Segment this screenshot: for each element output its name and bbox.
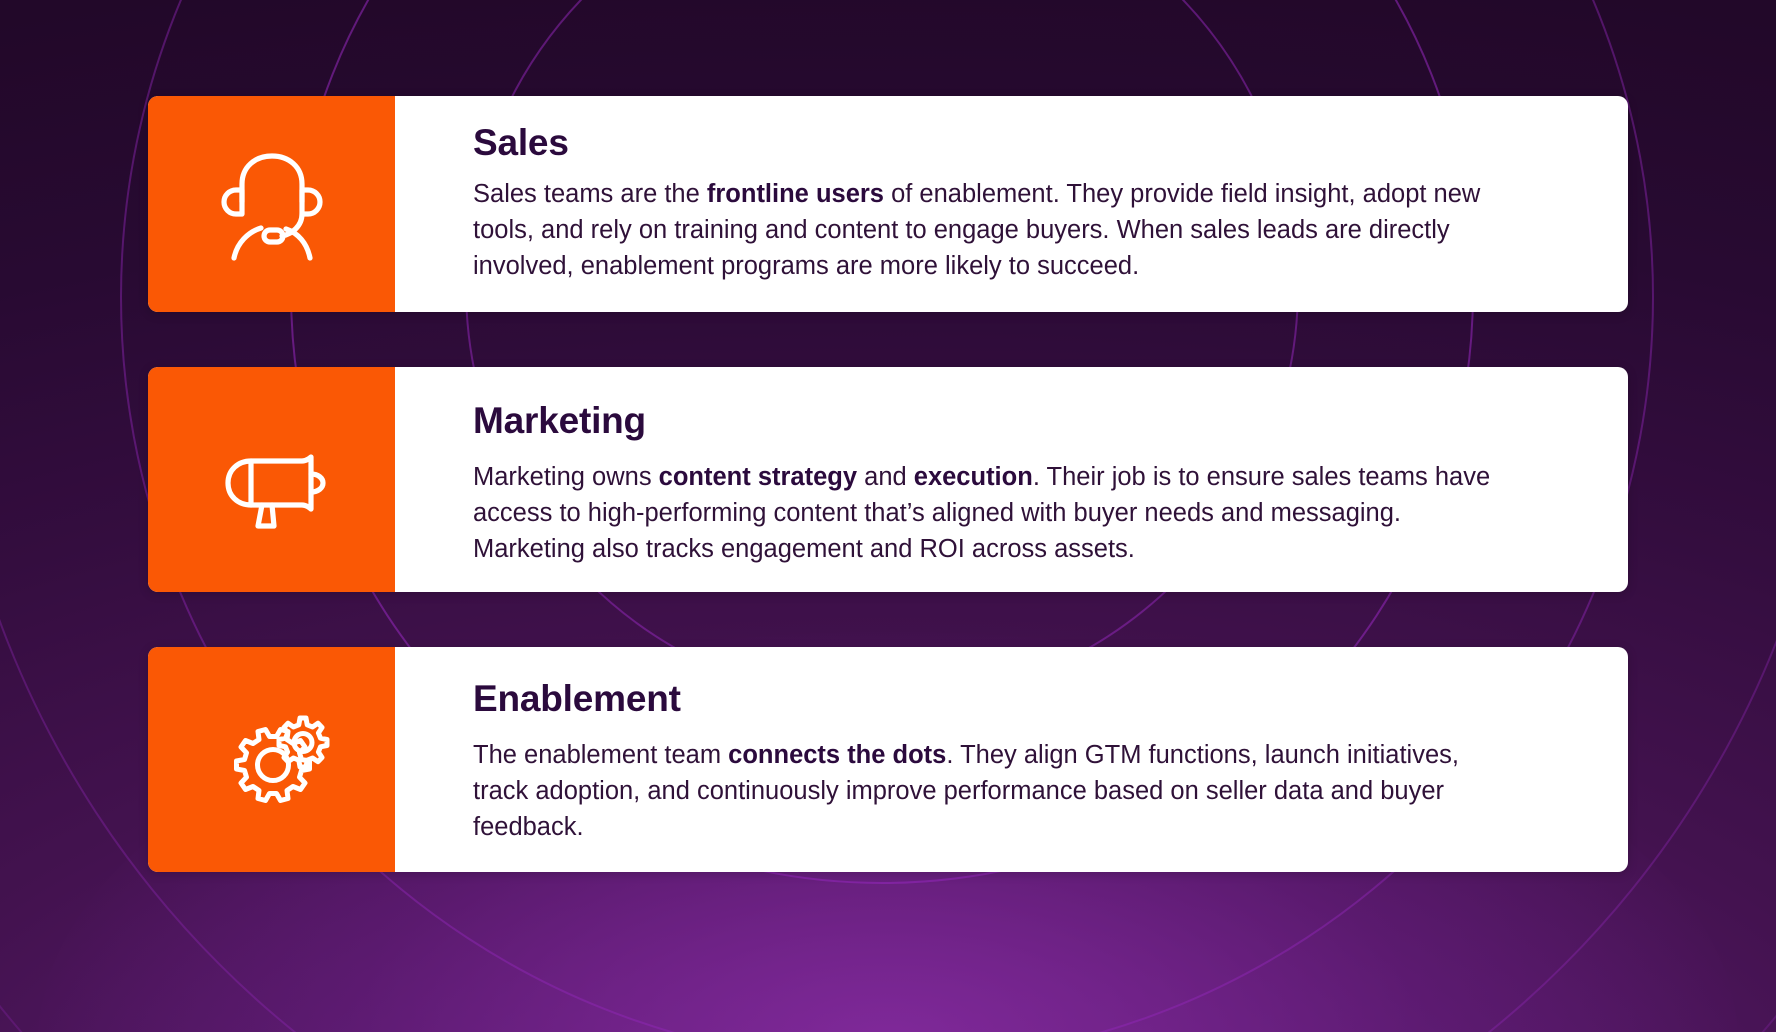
card-text-sales: Sales teams are the frontline users of e… <box>473 177 1508 285</box>
card-title-enablement: Enablement <box>473 679 1568 720</box>
card-sales[interactable]: Sales Sales teams are the frontline user… <box>148 96 1628 312</box>
card-text-enablement: The enablement team connects the dots. T… <box>473 738 1508 846</box>
card-body-marketing: Marketing Marketing owns content strateg… <box>395 367 1628 592</box>
card-marketing[interactable]: Marketing Marketing owns content strateg… <box>148 367 1628 592</box>
card-enablement[interactable]: Enablement The enablement team connects … <box>148 647 1628 872</box>
card-text-marketing: Marketing owns content strategy and exec… <box>473 460 1508 568</box>
card-list: Sales Sales teams are the frontline user… <box>148 96 1628 872</box>
icon-panel-enablement <box>148 647 395 872</box>
icon-panel-sales <box>148 96 395 312</box>
gears-icon <box>208 696 336 824</box>
slide-canvas: Sales Sales teams are the frontline user… <box>0 0 1776 1032</box>
card-body-enablement: Enablement The enablement team connects … <box>395 647 1628 872</box>
card-body-sales: Sales Sales teams are the frontline user… <box>395 96 1628 312</box>
headset-icon <box>208 140 336 268</box>
card-title-marketing: Marketing <box>473 401 1568 442</box>
icon-panel-marketing <box>148 367 395 592</box>
megaphone-icon <box>208 416 336 544</box>
card-title-sales: Sales <box>473 123 1568 164</box>
